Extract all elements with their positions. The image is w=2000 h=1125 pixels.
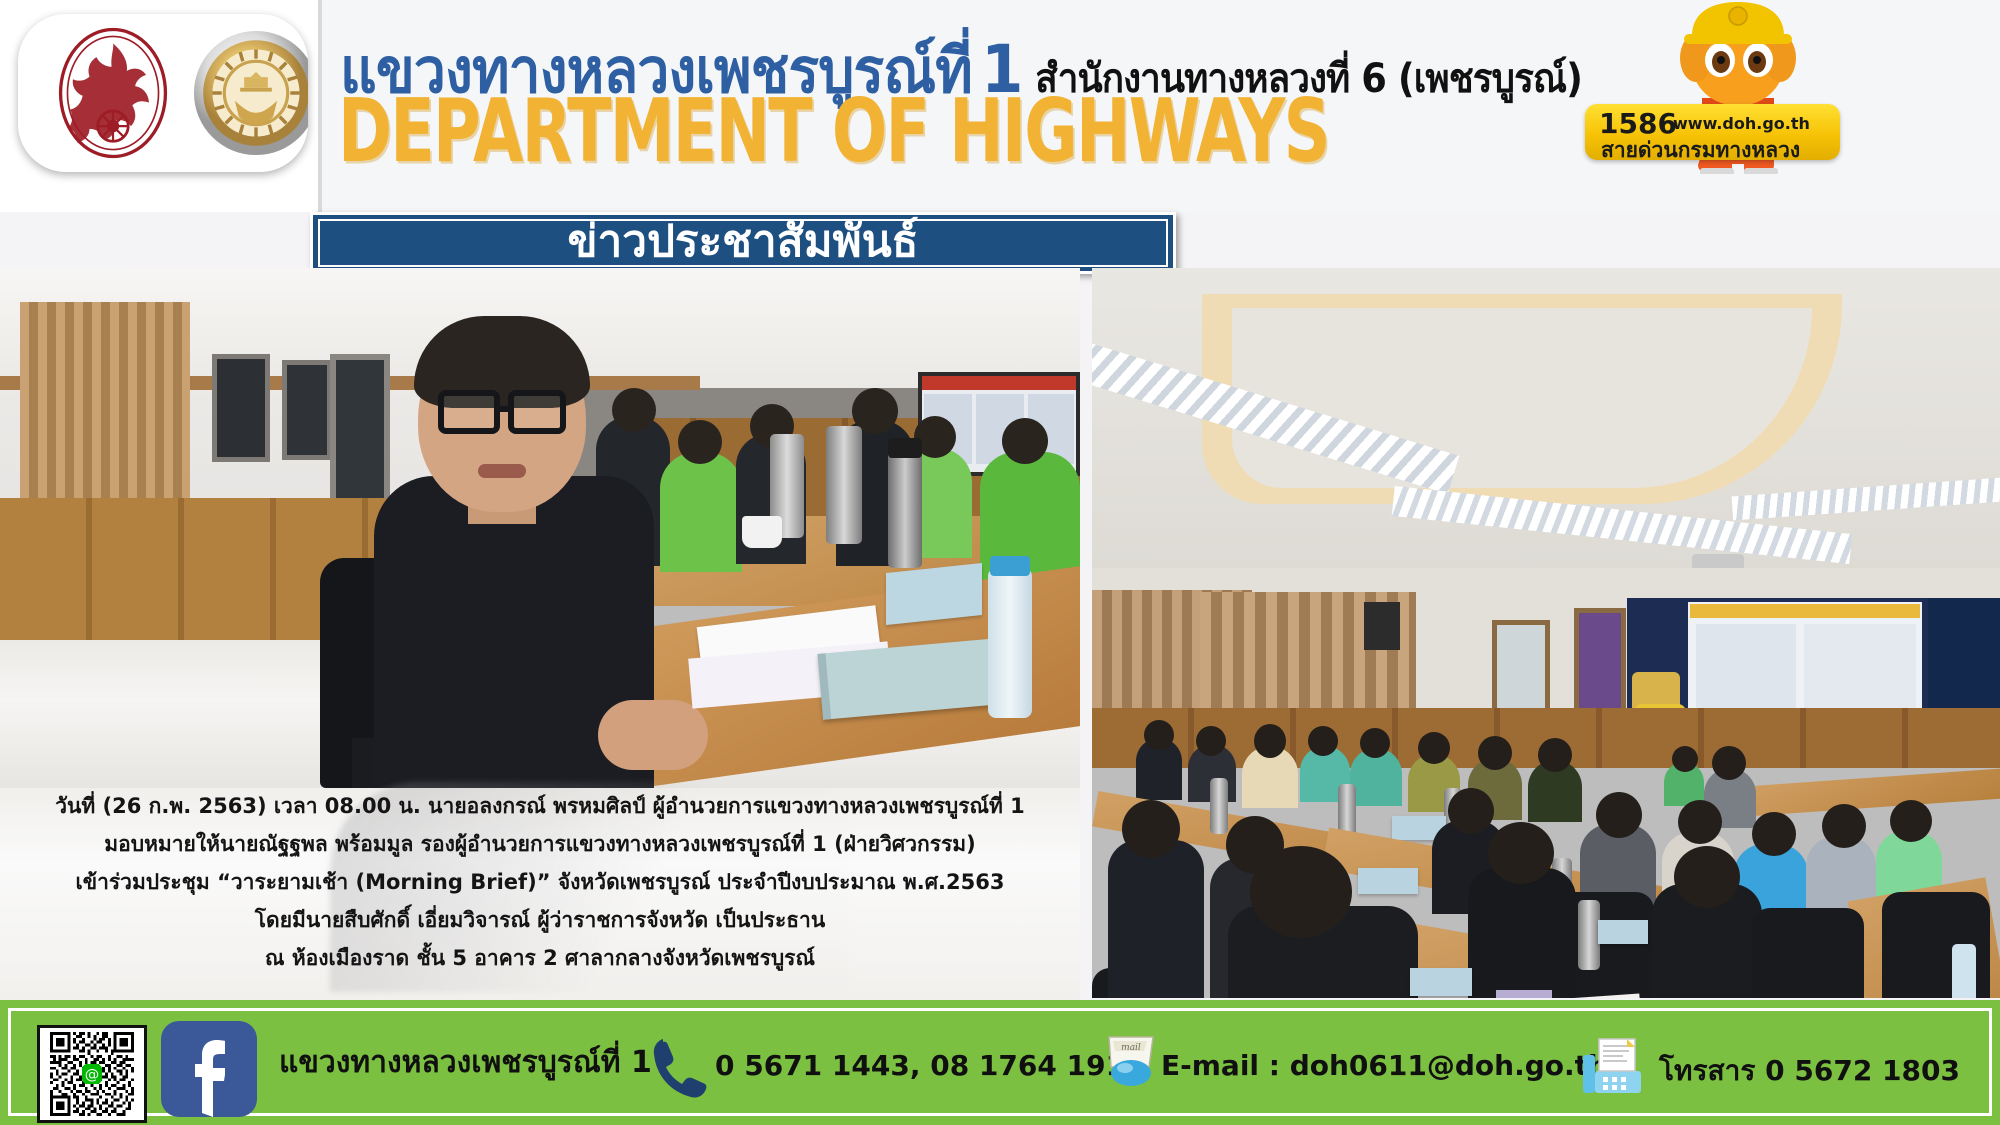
caption-line: มอบหมายให้นายณัฐฐพล พร้อมมูล รองผู้อำนวย… [104,834,975,855]
caption-line: วันที่ (26 ก.พ. 2563) เวลา 08.00 น. นายอ… [55,796,1025,817]
email-icon: mail [1101,1033,1159,1089]
royal-thai-garuda-seal-icon [44,24,182,162]
hotline-badge: 1586 www.doh.go.th สายด่วนกรมทางหลวง [1585,104,1840,160]
hotline-url: www.doh.go.th [1673,114,1810,133]
poster-header: แขวงทางหลวงเพชรบูรณ์ที่1สำนักงานทางหลวงท… [0,0,2000,212]
phone-icon [651,1035,709,1099]
phone-number: 0 5671 1443, 08 1764 1912 [715,1049,1145,1082]
banner-title: ข่าวประชาสัมพันธ์ [567,206,918,276]
photo-meeting-director [0,268,1080,788]
caption-line: ณ ห้องเมืองราด ชั้น 5 อาคาร 2 ศาลากลางจั… [265,948,815,969]
logo-plate [18,14,308,172]
facebook-f-glyph [195,1035,225,1117]
footer-inner: @ แขวงทางหลวงเพชรบูรณ์ที่ 1 0 5671 1443,… [8,1008,1992,1116]
department-of-highways-emblem-icon [190,27,308,159]
press-release-poster: แขวงทางหลวงเพชรบูรณ์ที่1สำนักงานทางหลวงท… [0,0,2000,1125]
title-block: แขวงทางหลวงเพชรบูรณ์ที่1สำนักงานทางหลวงท… [334,0,1514,212]
logo-panel [0,0,322,212]
org-title-english: DEPARTMENT OF HIGHWAYS [338,88,1329,175]
caption-block: วันที่ (26 ก.พ. 2563) เวลา 08.00 น. นายอ… [0,788,1080,1000]
hotline-label: สายด่วนกรมทางหลวง [1601,134,1800,167]
press-release-banner: ข่าวประชาสัมพันธ์ [310,212,1176,274]
fax-icon [1581,1037,1645,1097]
svg-text:@: @ [85,1067,99,1083]
qr-code-pattern: @ [44,1032,140,1116]
facebook-icon[interactable] [161,1021,257,1117]
facebook-page-label: แขวงทางหลวงเพชรบูรณ์ที่ 1 [279,1039,652,1086]
photo-meeting-room-wide [1092,268,2000,998]
line-qr-code-icon[interactable]: @ [37,1025,147,1123]
fax-label: โทรสาร 0 5672 1803 [1659,1049,1960,1093]
email-label: E-mail : doh0611@doh.go.th [1161,1049,1608,1082]
contact-footer: @ แขวงทางหลวงเพชรบูรณ์ที่ 1 0 5671 1443,… [0,1000,2000,1125]
caption-line: เข้าร่วมประชุม “วาระยามเช้า (Morning Bri… [76,872,1005,893]
svg-text:mail: mail [1121,1043,1141,1053]
caption-line: โดยมีนายสืบศักดิ์ เอี่ยมวิจารณ์ ผู้ว่ารา… [255,910,825,931]
